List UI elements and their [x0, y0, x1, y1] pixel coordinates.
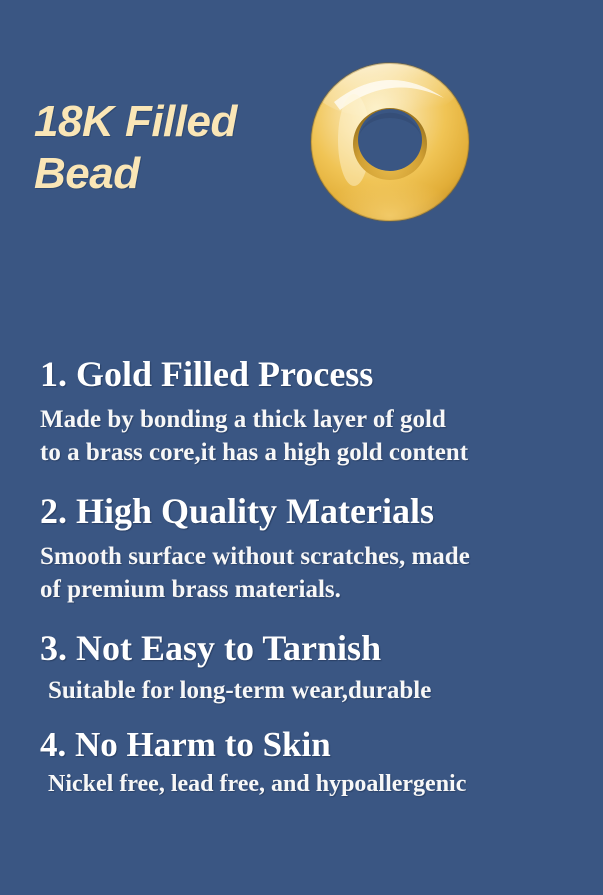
feature-body: Smooth surface without scratches, made o… — [0, 540, 603, 606]
feature-body-line: Nickel free, lead free, and hypoallergen… — [48, 768, 603, 801]
feature-heading: 4. No Harm to Skin — [0, 723, 603, 767]
product-title: 18K Filled Bead — [34, 96, 334, 200]
gold-bead-image — [310, 62, 470, 222]
feature-item: 3. Not Easy to Tarnish Suitable for long… — [0, 626, 603, 707]
feature-body: Nickel free, lead free, and hypoallergen… — [0, 768, 603, 801]
feature-body: Suitable for long-term wear,durable — [0, 674, 603, 707]
product-title-line-1: 18K Filled — [34, 96, 334, 148]
feature-body-line: of premium brass materials. — [40, 573, 603, 606]
feature-body-line: Smooth surface without scratches, made — [40, 540, 603, 573]
feature-item: 4. No Harm to Skin Nickel free, lead fre… — [0, 723, 603, 801]
feature-body: Made by bonding a thick layer of gold to… — [0, 403, 603, 469]
gold-bead-icon — [310, 62, 470, 222]
product-infographic: 18K Filled Bead — [0, 0, 603, 895]
feature-heading: 2. High Quality Materials — [0, 489, 603, 533]
feature-body-line: Made by bonding a thick layer of gold — [40, 403, 603, 436]
feature-item: 1. Gold Filled Process Made by bonding a… — [0, 352, 603, 469]
feature-item: 2. High Quality Materials Smooth surface… — [0, 489, 603, 606]
product-title-line-2: Bead — [34, 148, 334, 200]
feature-body-line: Suitable for long-term wear,durable — [48, 674, 603, 707]
feature-list: 1. Gold Filled Process Made by bonding a… — [0, 352, 603, 811]
feature-heading: 3. Not Easy to Tarnish — [0, 626, 603, 670]
feature-heading: 1. Gold Filled Process — [0, 352, 603, 396]
feature-body-line: to a brass core,it has a high gold conte… — [40, 436, 603, 469]
